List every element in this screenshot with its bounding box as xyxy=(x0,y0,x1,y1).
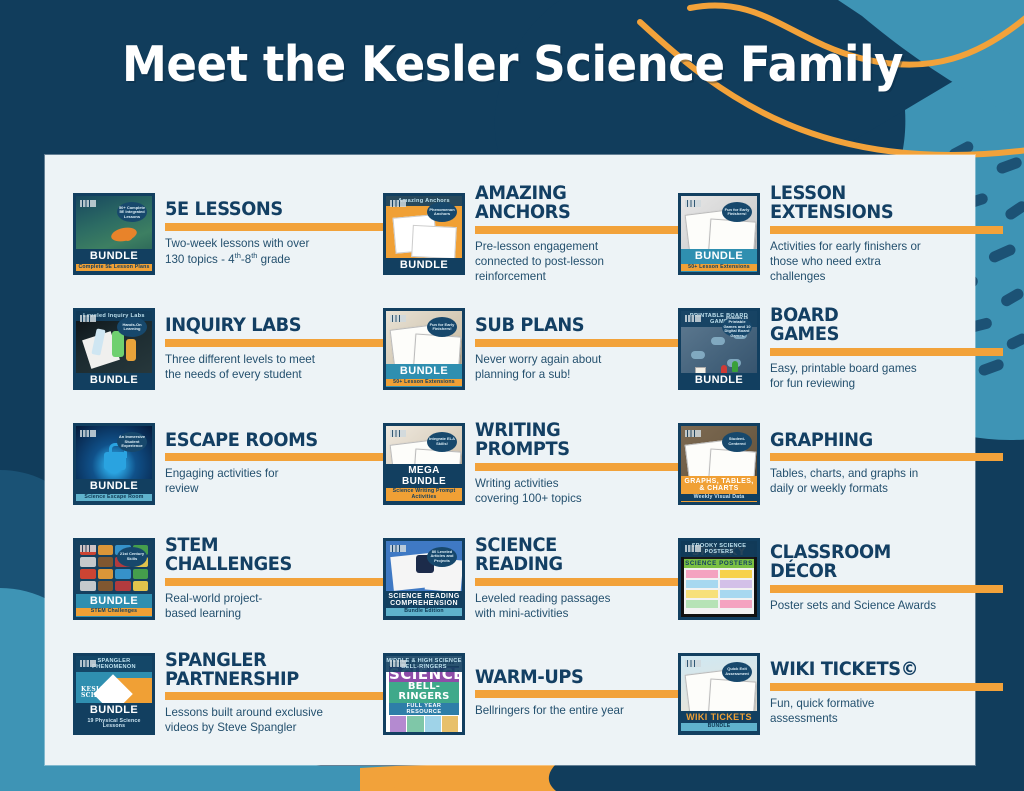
accent-rule xyxy=(475,578,678,586)
page-title-text: Meet the Kesler Science Family xyxy=(121,36,902,93)
thumbnail-banner: BUNDLE Complete 5E Lesson Plans xyxy=(76,249,152,272)
thumbnail-banner: BUNDLE STEM Challenges xyxy=(76,594,152,617)
kesler-logo-icon xyxy=(390,660,406,667)
product-text: SUB PLANS Never worry again about planni… xyxy=(475,317,678,382)
thumbnail-sublabel: Bundle Edition xyxy=(386,608,462,615)
kesler-logo-icon xyxy=(390,430,406,437)
kesler-logo-icon xyxy=(80,200,96,207)
product-description: Bellringers for the entire year xyxy=(475,703,678,718)
product-grid: 50+ Complete 5E Integrated Lessons BUNDL… xyxy=(45,155,975,765)
product-text: 5E LESSONS Two-week lessons with over130… xyxy=(165,201,383,267)
product-title: WARM-UPS xyxy=(475,669,670,688)
product-thumbnail[interactable]: 80 Leveled Articles and Projects SCIENCE… xyxy=(383,538,465,620)
thumbnail-banner: GRAPHS, TABLES, & CHARTS Weekly Visual D… xyxy=(681,476,757,502)
accent-rule xyxy=(165,692,383,700)
product-thumbnail[interactable]: Amazing Anchors Phenomenon Anchors BUNDL… xyxy=(383,193,465,275)
product-title: 5E LESSONS xyxy=(165,201,374,220)
product-thumbnail[interactable]: Fun for Early Finishers! BUNDLE 50+ Less… xyxy=(383,308,465,390)
accent-rule xyxy=(165,453,383,461)
thumbnail-badge: Student-Centered xyxy=(722,432,752,452)
product-thumbnail[interactable]: Fun for Early Finishers! BUNDLE 50+ Less… xyxy=(678,193,760,275)
product-item[interactable]: Amazing Anchors Phenomenon Anchors BUNDL… xyxy=(383,177,678,292)
thumbnail-badge: Integrate ELA Skills! xyxy=(427,432,457,452)
product-item[interactable]: 21st Century Skills BUNDLE STEM Challeng… xyxy=(73,521,383,636)
accent-rule xyxy=(475,690,678,698)
kesler-logo-icon xyxy=(685,315,701,322)
product-text: INQUIRY LABS Three different levels to m… xyxy=(165,317,383,382)
product-text: STEM CHALLENGES Real-world project- base… xyxy=(165,537,383,621)
product-item[interactable]: 50+ Complete 5E Integrated Lessons BUNDL… xyxy=(73,177,383,292)
accent-rule xyxy=(165,339,383,347)
product-title: SCIENCE READING xyxy=(475,537,670,575)
product-text: GRAPHING Tables, charts, and graphs in d… xyxy=(770,432,1003,497)
product-description: Two-week lessons with over130 topics - 4… xyxy=(165,236,383,267)
product-title: SPANGLER PARTNERSHIP xyxy=(165,652,374,690)
product-item[interactable]: KESLERSCIENCE SPANGLER PHENOMENON BUNDLE… xyxy=(73,636,383,751)
thumbnail-sublabel: Science Escape Room xyxy=(76,494,152,501)
product-item[interactable]: Leveled Inquiry Labs Hands-On Learning B… xyxy=(73,292,383,407)
kesler-logo-icon xyxy=(685,200,701,207)
kesler-logo-icon xyxy=(80,660,96,667)
product-title: WRITING PROMPTS xyxy=(475,422,670,460)
product-thumbnail[interactable]: KESLERSCIENCE SPANGLER PHENOMENON BUNDLE… xyxy=(73,653,155,735)
product-description: Fun, quick formative assessments xyxy=(770,696,1003,726)
thumbnail-banner: BUNDLE 50+ Lesson Extensions xyxy=(386,364,462,387)
thumbnail-badge: 80 Leveled Articles and Projects xyxy=(427,547,457,567)
product-title: BOARD GAMES xyxy=(770,307,994,345)
product-description: Lessons built around exclusive videos by… xyxy=(165,705,383,735)
product-text: CLASSROOM DÉCOR Poster sets and Science … xyxy=(770,544,1003,613)
product-description: Writing activities covering 100+ topics xyxy=(475,476,678,506)
product-title: SUB PLANS xyxy=(475,317,670,336)
thumbnail-sublabel: 50+ Lesson Extensions xyxy=(681,264,757,271)
product-title: WIKI TICKETS© xyxy=(770,661,994,680)
page-title: Meet the Kesler Science Family xyxy=(0,36,1024,93)
product-description: Poster sets and Science Awards xyxy=(770,598,1003,613)
thumbnail-banner: BUNDLE xyxy=(386,258,462,273)
thumbnail-badge: 21st Century Skills xyxy=(117,547,147,567)
accent-rule xyxy=(770,453,1003,461)
product-text: WRITING PROMPTS Writing activities cover… xyxy=(475,422,678,506)
product-item[interactable]: Student-Centered GRAPHS, TABLES, & CHART… xyxy=(678,407,1003,522)
product-thumbnail[interactable]: Quick Exit Assessment WIKI TICKETS BUNDL… xyxy=(678,653,760,735)
product-text: LESSON EXTENSIONS Activities for early f… xyxy=(770,185,1003,284)
product-title: AMAZING ANCHORS xyxy=(475,185,670,223)
product-item[interactable]: Fun for Early Finishers! BUNDLE 50+ Less… xyxy=(678,177,1003,292)
product-text: SPANGLER PARTNERSHIP Lessons built aroun… xyxy=(165,652,383,736)
product-text: SCIENCE READING Leveled reading passages… xyxy=(475,537,678,621)
product-title: LESSON EXTENSIONS xyxy=(770,185,994,223)
product-thumbnail[interactable]: SPOOKY SCIENCE POSTERS SPOOKY SCIENCE PO… xyxy=(678,538,760,620)
product-panel: 50+ Complete 5E Integrated Lessons BUNDL… xyxy=(45,155,975,765)
product-description: Easy, printable board games for fun revi… xyxy=(770,361,1003,391)
product-description: Never worry again about planning for a s… xyxy=(475,352,678,382)
product-thumbnail[interactable]: Leveled Inquiry Labs Hands-On Learning B… xyxy=(73,308,155,390)
accent-rule xyxy=(770,348,1003,356)
kesler-logo-icon xyxy=(390,315,406,322)
thumbnail-banner: BUNDLE xyxy=(681,373,757,388)
product-title: INQUIRY LABS xyxy=(165,317,374,336)
product-text: WARM-UPS Bellringers for the entire year xyxy=(475,669,678,719)
product-thumbnail[interactable]: Integrate ELA Skills! MEGA BUNDLE Scienc… xyxy=(383,423,465,505)
product-description: Real-world project- based learning xyxy=(165,591,383,621)
thumbnail-sublabel: Science Writing Prompt Activities xyxy=(386,488,462,501)
accent-rule xyxy=(770,585,1003,593)
thumbnail-sublabel: Weekly Visual Data xyxy=(681,494,757,501)
product-title: CLASSROOM DÉCOR xyxy=(770,544,994,582)
product-text: BOARD GAMES Easy, printable board games … xyxy=(770,307,1003,391)
kesler-logo-icon xyxy=(685,430,701,437)
kesler-logo-icon xyxy=(390,545,406,552)
accent-rule xyxy=(770,683,1003,691)
kesler-logo-icon xyxy=(80,545,96,552)
product-item[interactable]: MIDDLE & HIGH SCIENCE BELL-RINGERS FULL … xyxy=(383,636,678,751)
kesler-logo-icon xyxy=(685,660,701,667)
product-thumbnail[interactable]: PRINTABLE BOARD GAME Includes 15 Printab… xyxy=(678,308,760,390)
thumbnail-banner: BUNDLE 19 Physical Science Lessons xyxy=(76,703,152,731)
product-title: GRAPHING xyxy=(770,432,994,451)
thumbnail-banner: BUNDLE xyxy=(76,373,152,388)
product-thumbnail[interactable]: Student-Centered GRAPHS, TABLES, & CHART… xyxy=(678,423,760,505)
thumbnail-banner: BUNDLE 50+ Lesson Extensions xyxy=(681,249,757,272)
product-title: STEM CHALLENGES xyxy=(165,537,374,575)
thumbnail-badge: An Immersive Student Experience xyxy=(117,432,147,452)
product-text: ESCAPE ROOMS Engaging activities for rev… xyxy=(165,432,383,497)
product-item[interactable]: An Immersive Student Experience BUNDLE S… xyxy=(73,407,383,522)
thumbnail-banner: WIKI TICKETS BUNDLE xyxy=(681,711,757,732)
product-description: Engaging activities for review xyxy=(165,466,383,496)
kesler-logo-icon xyxy=(685,545,701,552)
thumbnail-badge: Includes 15 Printable Games and 10 Digit… xyxy=(722,317,752,337)
accent-rule xyxy=(770,226,1003,234)
product-thumbnail[interactable]: An Immersive Student Experience BUNDLE S… xyxy=(73,423,155,505)
product-description: Tables, charts, and graphs in daily or w… xyxy=(770,466,1003,496)
kesler-logo-icon xyxy=(390,200,406,207)
product-description: Activities for early finishers or those … xyxy=(770,239,1003,284)
product-description: Leveled reading passages with mini-activ… xyxy=(475,591,678,621)
accent-rule xyxy=(475,339,678,347)
accent-rule xyxy=(165,578,383,586)
thumbnail-banner: SCIENCE READING COMPREHENSION Bundle Edi… xyxy=(386,591,462,617)
kesler-logo-icon xyxy=(80,430,96,437)
product-thumbnail[interactable]: 21st Century Skills BUNDLE STEM Challeng… xyxy=(73,538,155,620)
thumbnail-banner: BUNDLE Science Escape Room xyxy=(76,479,152,502)
product-item[interactable]: Quick Exit Assessment WIKI TICKETS BUNDL… xyxy=(678,636,1003,751)
thumbnail-sublabel: BUNDLE xyxy=(681,723,757,730)
accent-rule xyxy=(165,223,383,231)
thumbnail-sublabel: Complete 5E Lesson Plans xyxy=(76,264,152,271)
thumbnail-sublabel: STEM Challenges xyxy=(76,608,152,615)
product-thumbnail[interactable]: 50+ Complete 5E Integrated Lessons BUNDL… xyxy=(73,193,155,275)
product-description: Pre-lesson engagement connected to post-… xyxy=(475,239,678,284)
product-item[interactable]: Fun for Early Finishers! BUNDLE 50+ Less… xyxy=(383,292,678,407)
kesler-logo-icon xyxy=(80,315,96,322)
product-item[interactable]: 80 Leveled Articles and Projects SCIENCE… xyxy=(383,521,678,636)
product-item[interactable]: PRINTABLE BOARD GAME Includes 15 Printab… xyxy=(678,292,1003,407)
accent-rule xyxy=(475,226,678,234)
product-text: AMAZING ANCHORS Pre-lesson engagement co… xyxy=(475,185,678,284)
accent-rule xyxy=(475,463,678,471)
thumbnail-badge: Quick Exit Assessment xyxy=(722,662,752,682)
product-text: WIKI TICKETS© Fun, quick formative asses… xyxy=(770,661,1003,726)
product-item[interactable]: Integrate ELA Skills! MEGA BUNDLE Scienc… xyxy=(383,407,678,522)
product-thumbnail[interactable]: MIDDLE & HIGH SCIENCE BELL-RINGERS FULL … xyxy=(383,653,465,735)
product-description: Three different levels to meet the needs… xyxy=(165,352,383,382)
thumbnail-banner: MEGA BUNDLE Science Writing Prompt Activ… xyxy=(386,464,462,502)
thumbnail-sublabel: 19 Physical Science Lessons xyxy=(76,718,152,731)
thumbnail-sublabel: 50+ Lesson Extensions xyxy=(386,379,462,386)
product-item[interactable]: SPOOKY SCIENCE POSTERS SPOOKY SCIENCE PO… xyxy=(678,521,1003,636)
product-title: ESCAPE ROOMS xyxy=(165,432,374,451)
